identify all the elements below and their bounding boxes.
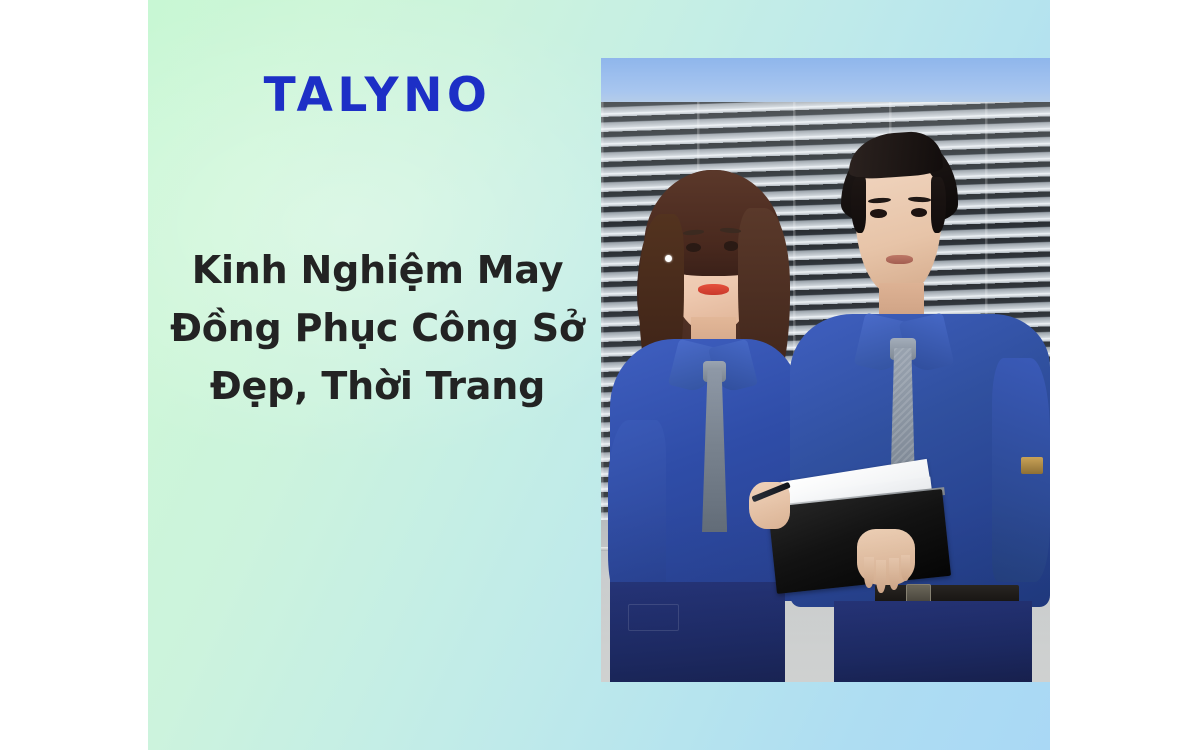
man-eye-right	[911, 208, 927, 217]
headline: Kinh Nghiệm May Đồng Phục Công Sở Đẹp, T…	[170, 242, 585, 415]
man-lips	[886, 255, 913, 264]
text-column: TALYNO Kinh Nghiệm May Đồng Phục Công Sở…	[150, 0, 605, 750]
woman-trousers	[610, 582, 785, 682]
headline-line-1: Kinh Nghiệm May	[170, 242, 585, 300]
hero-photo	[601, 58, 1050, 682]
woman-eye-left	[686, 243, 701, 252]
man-sideburn-left	[851, 177, 867, 233]
man-wristwatch	[1021, 457, 1043, 473]
man-finger-1	[864, 557, 874, 588]
woman-trouser-pocket	[628, 604, 679, 631]
man-finger-4	[901, 555, 910, 581]
man-eye-left	[870, 209, 886, 218]
woman-lips	[698, 284, 729, 295]
man-finger-2	[876, 560, 886, 594]
headline-line-2: Đồng Phục Công Sở	[170, 300, 585, 358]
banner-canvas: TALYNO Kinh Nghiệm May Đồng Phục Công Sở…	[0, 0, 1200, 750]
woman-eye-right	[724, 241, 739, 250]
man-finger-3	[889, 558, 899, 589]
brand-logo: TALYNO	[264, 72, 492, 119]
man-trousers	[834, 601, 1032, 682]
woman-earring	[665, 255, 672, 262]
woman-left-arm	[608, 420, 666, 607]
headline-line-3: Đẹp, Thời Trang	[170, 358, 585, 416]
